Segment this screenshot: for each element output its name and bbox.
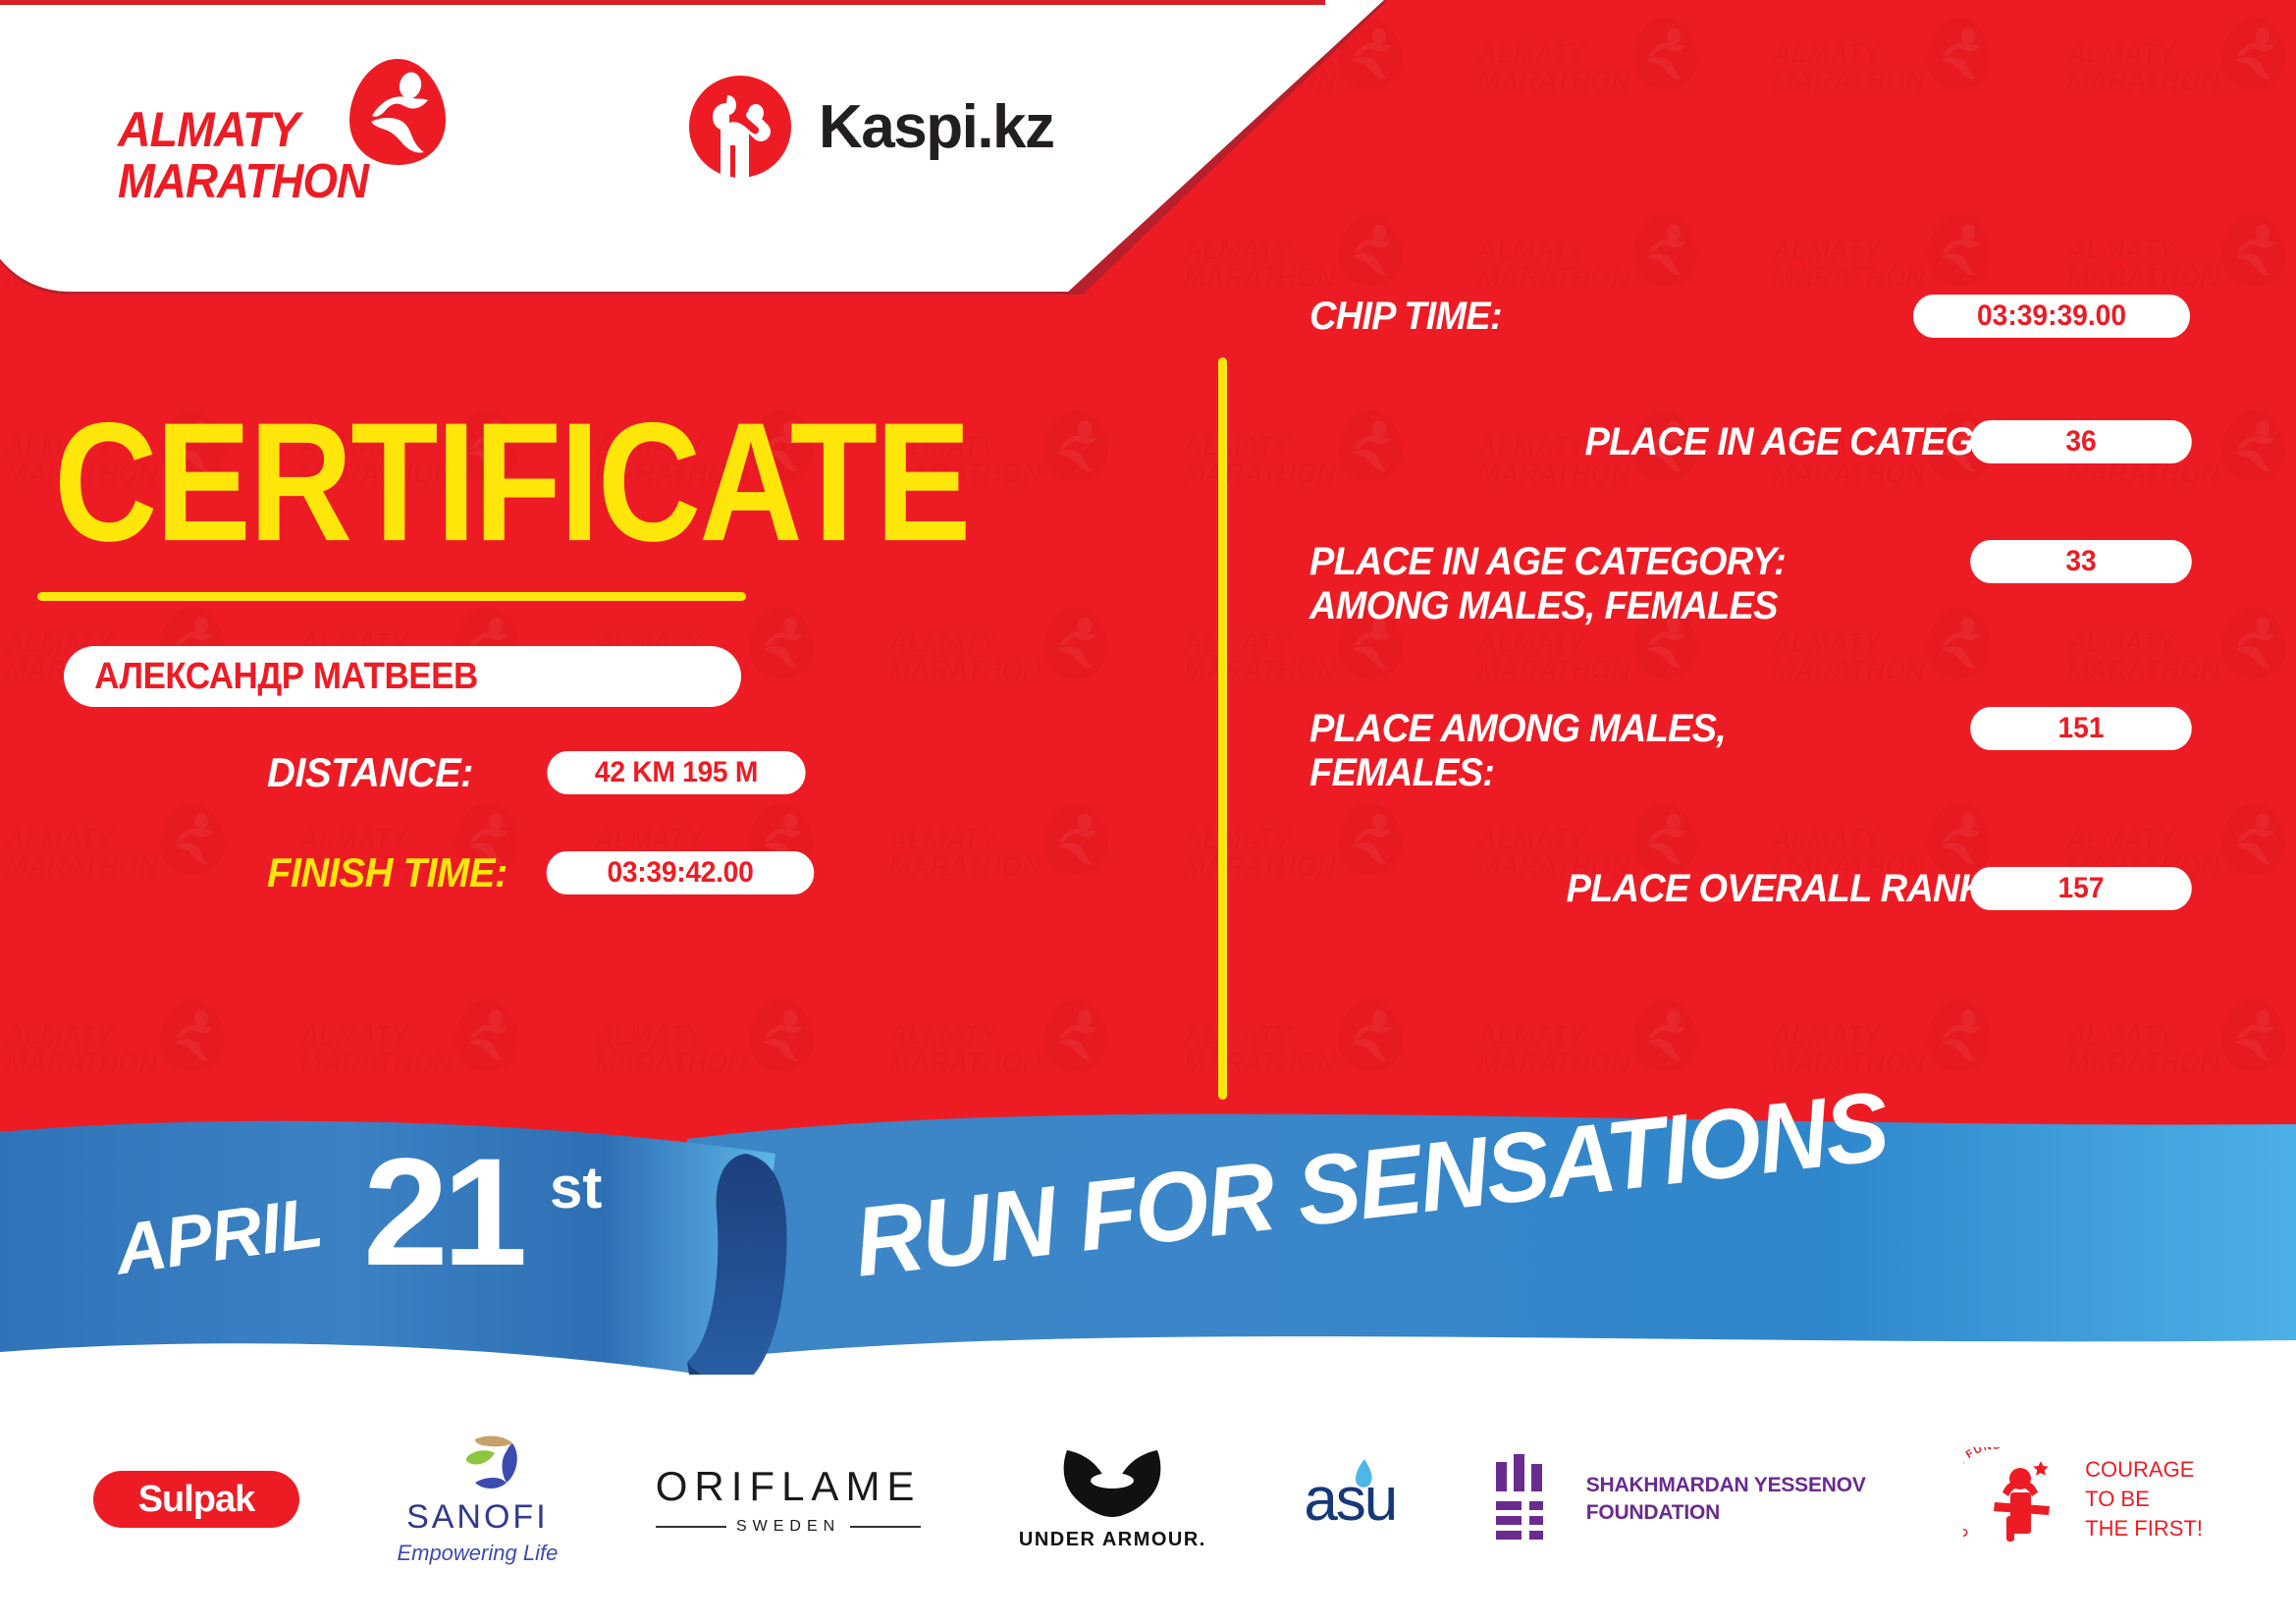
place-age-category-gender-value: 33 xyxy=(1970,540,2192,583)
oriflame-rule-left xyxy=(656,1526,726,1528)
under-armour-icon xyxy=(1053,1448,1171,1523)
results-column: CHIP TIME: 03:39:39.00 PLACE IN AGE CATE… xyxy=(1227,295,2296,1178)
sulpak-logo: Sulpak xyxy=(93,1471,299,1528)
logo-line-marathon: MARATHON xyxy=(118,158,373,205)
kaspi-wordmark: Kaspi.kz xyxy=(819,92,1054,162)
oriflame-rule-right xyxy=(850,1526,921,1528)
svg-text:CORPORATE FUND: CORPORATE FUND xyxy=(1963,1447,2002,1540)
place-age-category-value: 36 xyxy=(1970,420,2192,463)
certificate-canvas: ALMATY MARATHON Kaspi.kz CERTIFICATE АЛЕ… xyxy=(0,0,2296,1624)
courage-line-1: COURAGE xyxy=(2085,1455,2203,1485)
sponsor-oriflame: ORIFLAME SWEDEN xyxy=(656,1463,922,1536)
event-ribbon: APRIL 21 st RUN FOR SENSATIONS xyxy=(0,1095,2296,1419)
yessenov-line-2: FOUNDATION xyxy=(1586,1499,1866,1527)
sulpak-wordmark: Sulpak xyxy=(138,1479,255,1521)
almaty-marathon-logo: ALMATY MARATHON xyxy=(118,57,452,194)
sanofi-wordmark: SANOFI xyxy=(406,1498,549,1537)
sponsor-sanofi: SANOFI Empowering Life xyxy=(397,1434,558,1566)
chip-time-value: 03:39:39.00 xyxy=(1913,295,2190,338)
field-finish-time: FINISH TIME: 03:39:42.00 xyxy=(267,849,823,896)
distance-label: DISTANCE: xyxy=(267,749,473,796)
ribbon-date: APRIL xyxy=(110,1182,326,1291)
sponsor-strip: Sulpak SANOFI Empowering Life ORIFLAME S… xyxy=(0,1375,2296,1624)
almaty-marathon-wordmark: ALMATY MARATHON xyxy=(118,106,393,205)
participant-name-field: АЛЕКСАНДР МАТВЕЕВ xyxy=(64,646,741,707)
header-logos: ALMATY MARATHON Kaspi.kz xyxy=(0,0,1178,295)
title-underline-rule xyxy=(37,592,746,601)
finish-time-value: 03:39:42.00 xyxy=(546,851,814,894)
kaspi-logo: Kaspi.kz xyxy=(687,74,1054,180)
asu-droplet-icon xyxy=(1351,1459,1376,1492)
place-age-category-gender-label: PLACE IN AGE CATEGORY: AMONG MALES, FEMA… xyxy=(1309,540,1786,628)
courage-line-2: TO BE xyxy=(2085,1485,2203,1514)
ribbon-day-group: 21 st xyxy=(363,1136,522,1289)
sponsor-asu: asu xyxy=(1304,1465,1396,1535)
field-distance: DISTANCE: 42 KM 195 M xyxy=(267,749,814,796)
logo-line-almaty: ALMATY xyxy=(118,106,373,154)
distance-value: 42 KM 195 M xyxy=(547,751,805,794)
oriflame-subline: SWEDEN xyxy=(656,1518,922,1536)
yessenov-line-1: SHAKHMARDAN YESSENOV xyxy=(1586,1472,1866,1499)
chip-time-label: CHIP TIME: xyxy=(1309,295,1502,339)
asu-wordmark: asu xyxy=(1304,1466,1396,1534)
page-title: CERTIFICATE xyxy=(54,398,969,567)
participant-name-value: АЛЕКСАНДР МАТВЕЕВ xyxy=(64,656,478,698)
place-among-gender-value: 151 xyxy=(1970,707,2192,750)
ribbon-slogan: RUN FOR SENSATIONS xyxy=(849,1070,1894,1300)
sponsor-courage-to-be-first: CORPORATE FUND COURAGE TO BE THE FIRST! xyxy=(1963,1447,2203,1551)
ribbon-day: 21 xyxy=(363,1127,522,1298)
ribbon-month: APRIL xyxy=(110,1183,326,1290)
courage-line-3: THE FIRST! xyxy=(2085,1514,2203,1543)
sponsor-under-armour: UNDER ARMOUR. xyxy=(1019,1448,1206,1551)
sponsor-sulpak: Sulpak xyxy=(93,1471,299,1528)
place-among-gender-label: PLACE AMONG MALES, FEMALES: xyxy=(1309,707,1726,795)
sanofi-icon xyxy=(430,1434,524,1494)
finish-time-label: FINISH TIME: xyxy=(267,849,507,896)
courage-figure-icon: CORPORATE FUND xyxy=(1963,1447,2071,1551)
oriflame-wordmark: ORIFLAME xyxy=(656,1463,922,1510)
yessenov-wordmark: SHAKHMARDAN YESSENOV FOUNDATION xyxy=(1586,1472,1866,1528)
column-divider xyxy=(1218,357,1227,1100)
place-overall-value: 157 xyxy=(1970,867,2192,910)
sanofi-tagline: Empowering Life xyxy=(397,1541,558,1566)
ribbon-slogan-wrap: RUN FOR SENSATIONS xyxy=(832,1068,1908,1302)
courage-wordmark: COURAGE TO BE THE FIRST! xyxy=(2085,1455,2203,1543)
under-armour-wordmark: UNDER ARMOUR. xyxy=(1019,1529,1206,1551)
ribbon-ordinal: st xyxy=(550,1154,602,1221)
kaspi-people-icon xyxy=(687,74,793,180)
sponsor-yessenov-foundation: SHAKHMARDAN YESSENOV FOUNDATION xyxy=(1494,1454,1866,1544)
yessenov-bars-icon xyxy=(1494,1454,1565,1544)
oriflame-sweden-label: SWEDEN xyxy=(736,1518,840,1536)
